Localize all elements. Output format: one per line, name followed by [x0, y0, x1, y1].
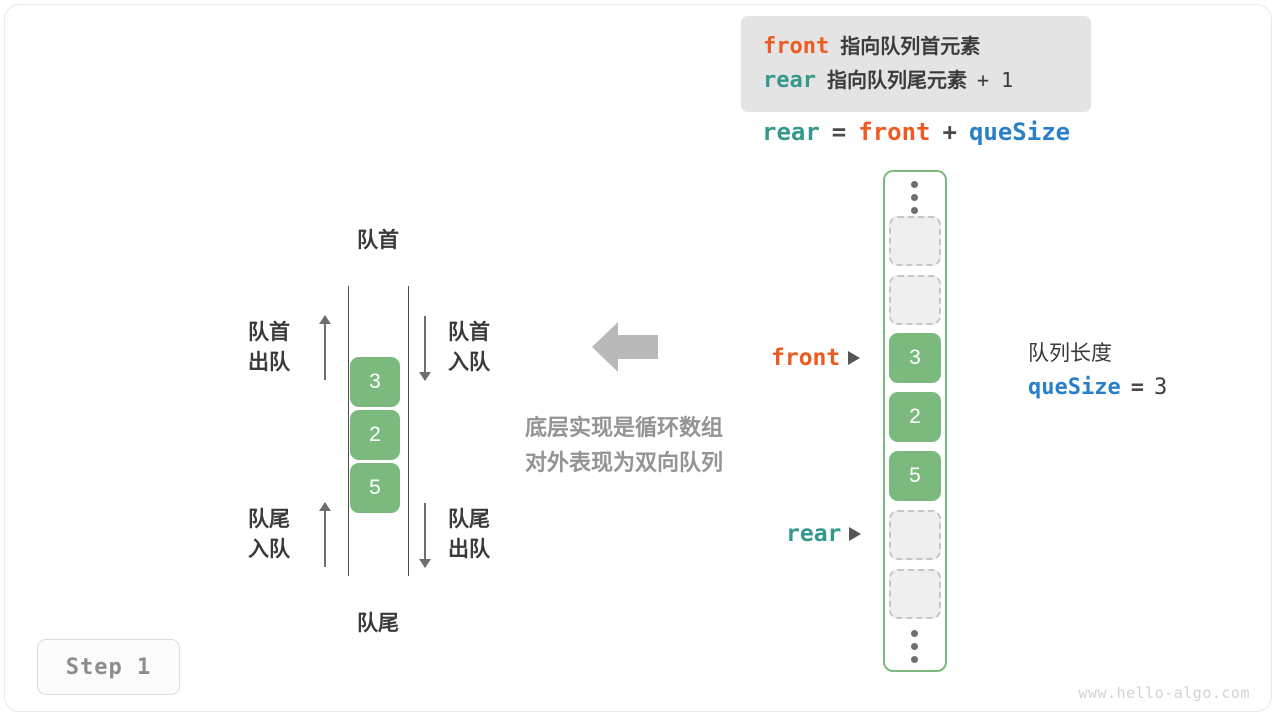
deque-top-label: 队首: [348, 226, 408, 256]
legend-row-front: front 指向队列首元素: [763, 30, 1091, 64]
formula-plus: +: [943, 118, 957, 146]
deque-cell: 3: [350, 357, 400, 407]
label-rear-dequeue-line2: 出队: [448, 535, 553, 565]
deque-cell: 2: [350, 410, 400, 460]
deque-cell: 5: [350, 463, 400, 513]
pointer-front: front: [771, 345, 860, 371]
array-cell: [889, 275, 941, 325]
pointer-front-arrow-icon: [848, 351, 860, 365]
array-cell: [889, 510, 941, 560]
label-rear-enqueue: 队尾 入队: [185, 505, 290, 565]
label-front-enqueue-line2: 入队: [448, 348, 553, 378]
quesize-value: 3: [1154, 375, 1167, 400]
formula-rhs-front: front: [858, 118, 930, 146]
arrow-rear-dequeue-down: [418, 503, 432, 567]
legend-row-rear: rear 指向队列尾元素 + 1: [763, 64, 1091, 98]
pointer-rear-label: rear: [786, 521, 841, 547]
step-badge: Step 1: [37, 639, 180, 695]
array-cell: [889, 569, 941, 619]
formula-equals: =: [832, 118, 846, 146]
watermark: www.hello-algo.com: [1078, 684, 1250, 702]
label-front-dequeue-line1: 队首: [185, 318, 290, 348]
pointer-rear-arrow-icon: [849, 527, 861, 541]
legend-desc-front: 指向队列首元素: [840, 30, 980, 59]
deque-bottom-label: 队尾: [348, 609, 408, 639]
label-front-dequeue-line2: 出队: [185, 348, 290, 378]
label-rear-dequeue-line1: 队尾: [448, 505, 553, 535]
center-note-line2: 对外表现为双向队列: [500, 445, 748, 480]
pointer-rear: rear: [786, 521, 861, 547]
arrow-front-dequeue-up: [318, 316, 332, 380]
array-bottom-ellipsis-icon: [911, 630, 919, 669]
label-rear-enqueue-line2: 入队: [185, 535, 290, 565]
queue-size-label: 队列长度: [1028, 338, 1167, 370]
legend-key-rear: rear: [763, 68, 816, 93]
array-cell: 3: [889, 333, 941, 383]
queue-size-note: 队列长度 queSize=3: [1028, 338, 1167, 405]
label-rear-enqueue-line1: 队尾: [185, 505, 290, 535]
left-arrow-icon: [592, 322, 658, 372]
arrow-front-enqueue-down: [418, 316, 432, 380]
center-note: 底层实现是循环数组 对外表现为双向队列: [500, 410, 748, 480]
label-front-enqueue: 队首 入队: [448, 318, 553, 378]
formula-lhs: rear: [762, 118, 820, 146]
array-cell: 2: [889, 392, 941, 442]
label-rear-dequeue: 队尾 出队: [448, 505, 553, 565]
quesize-equals: =: [1131, 375, 1144, 400]
arrow-rear-enqueue-up: [318, 503, 332, 567]
legend-desc-rear: 指向队列尾元素: [827, 64, 967, 93]
diagram-canvas: front 指向队列首元素 rear 指向队列尾元素 + 1 rear=fron…: [0, 0, 1280, 720]
pointer-front-label: front: [771, 345, 840, 371]
array-cell: 5: [889, 451, 941, 501]
array-top-ellipsis-icon: [911, 181, 919, 220]
label-front-enqueue-line1: 队首: [448, 318, 553, 348]
deque-left-rail: [348, 286, 349, 576]
formula-rhs-quesize: queSize: [969, 118, 1070, 146]
legend-key-front: front: [763, 34, 829, 59]
formula-rear-equals-front-plus-quesize: rear=front+queSize: [762, 118, 1070, 146]
array-cell: [889, 216, 941, 266]
legend-suffix-rear: + 1: [977, 68, 1013, 92]
label-front-dequeue: 队首 出队: [185, 318, 290, 378]
legend-box: front 指向队列首元素 rear 指向队列尾元素 + 1: [741, 16, 1091, 112]
deque-right-rail: [408, 286, 409, 576]
quesize-variable: queSize: [1028, 375, 1121, 400]
center-note-line1: 底层实现是循环数组: [500, 410, 748, 445]
